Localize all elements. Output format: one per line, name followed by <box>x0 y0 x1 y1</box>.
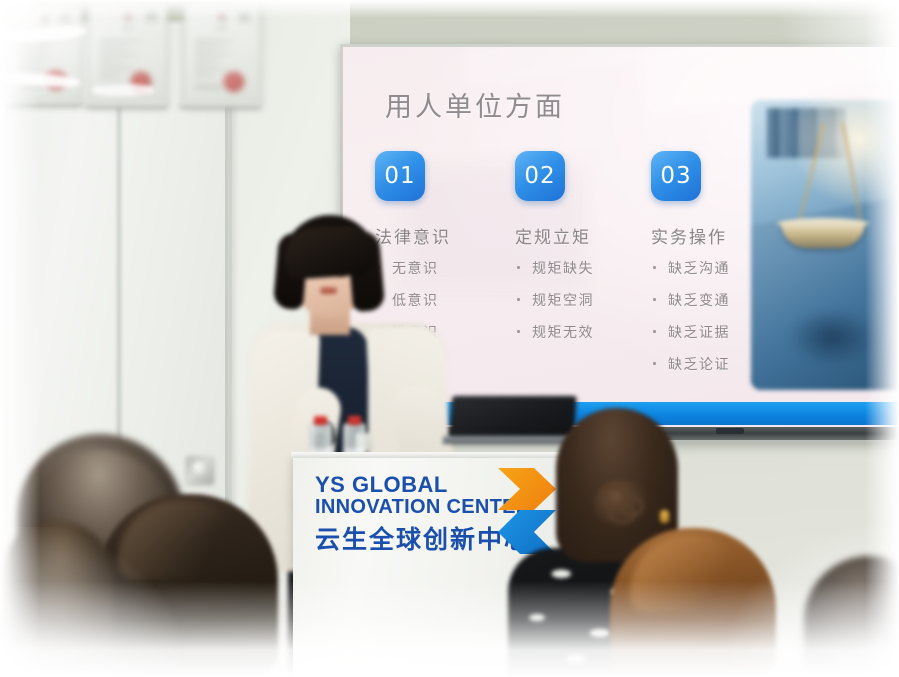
certificate-shelf-1 <box>4 100 82 105</box>
slide-column-2: 02 定规立矩 规矩缺失 规矩空洞 规矩无效 <box>515 151 594 354</box>
slide-title: 用人单位方面 <box>385 85 565 124</box>
column-heading-2: 定规立矩 <box>515 223 594 248</box>
number-badge-02: 02 <box>515 151 565 201</box>
bullet-item: 规矩无效 <box>515 322 594 342</box>
bullet-item: 缺乏沟通 <box>651 258 730 278</box>
podium-logo-line-1: YS GLOBAL <box>315 472 448 498</box>
framed-certificate-1: 证书 <box>8 4 82 104</box>
cabinet-lock <box>186 456 214 484</box>
number-badge-01: 01 <box>375 151 425 201</box>
column-bullets-3: 缺乏沟通 缺乏变通 缺乏证据 缺乏论证 <box>651 258 730 374</box>
screen-ir-sensor <box>716 428 744 434</box>
bullet-item: 规矩空洞 <box>515 290 594 310</box>
bullet-item: 缺乏论证 <box>651 354 730 374</box>
column-heading-3: 实务操作 <box>651 223 730 248</box>
scales-of-justice-photo <box>751 100 899 390</box>
column-bullets-2: 规矩缺失 规矩空洞 规矩无效 <box>515 258 594 342</box>
slide-column-3: 03 实务操作 缺乏沟通 缺乏变通 缺乏证据 缺乏论证 <box>651 151 730 386</box>
laptop[interactable] <box>450 396 577 438</box>
bullet-item: 规矩缺失 <box>515 258 594 278</box>
bullet-item: 缺乏变通 <box>651 290 730 310</box>
bullet-item: 缺乏证据 <box>651 322 730 342</box>
number-badge-03: 03 <box>651 151 701 201</box>
certificate-shelf-3 <box>180 102 260 107</box>
certificate-shelf-2 <box>85 102 167 107</box>
presentation-photo: 证书 证书 证书 用人单位方面 01 法律意识 无意识 低意识 错意 <box>0 0 899 677</box>
glass-glare-3 <box>92 84 154 96</box>
framed-certificate-3: 证书 <box>183 2 261 106</box>
